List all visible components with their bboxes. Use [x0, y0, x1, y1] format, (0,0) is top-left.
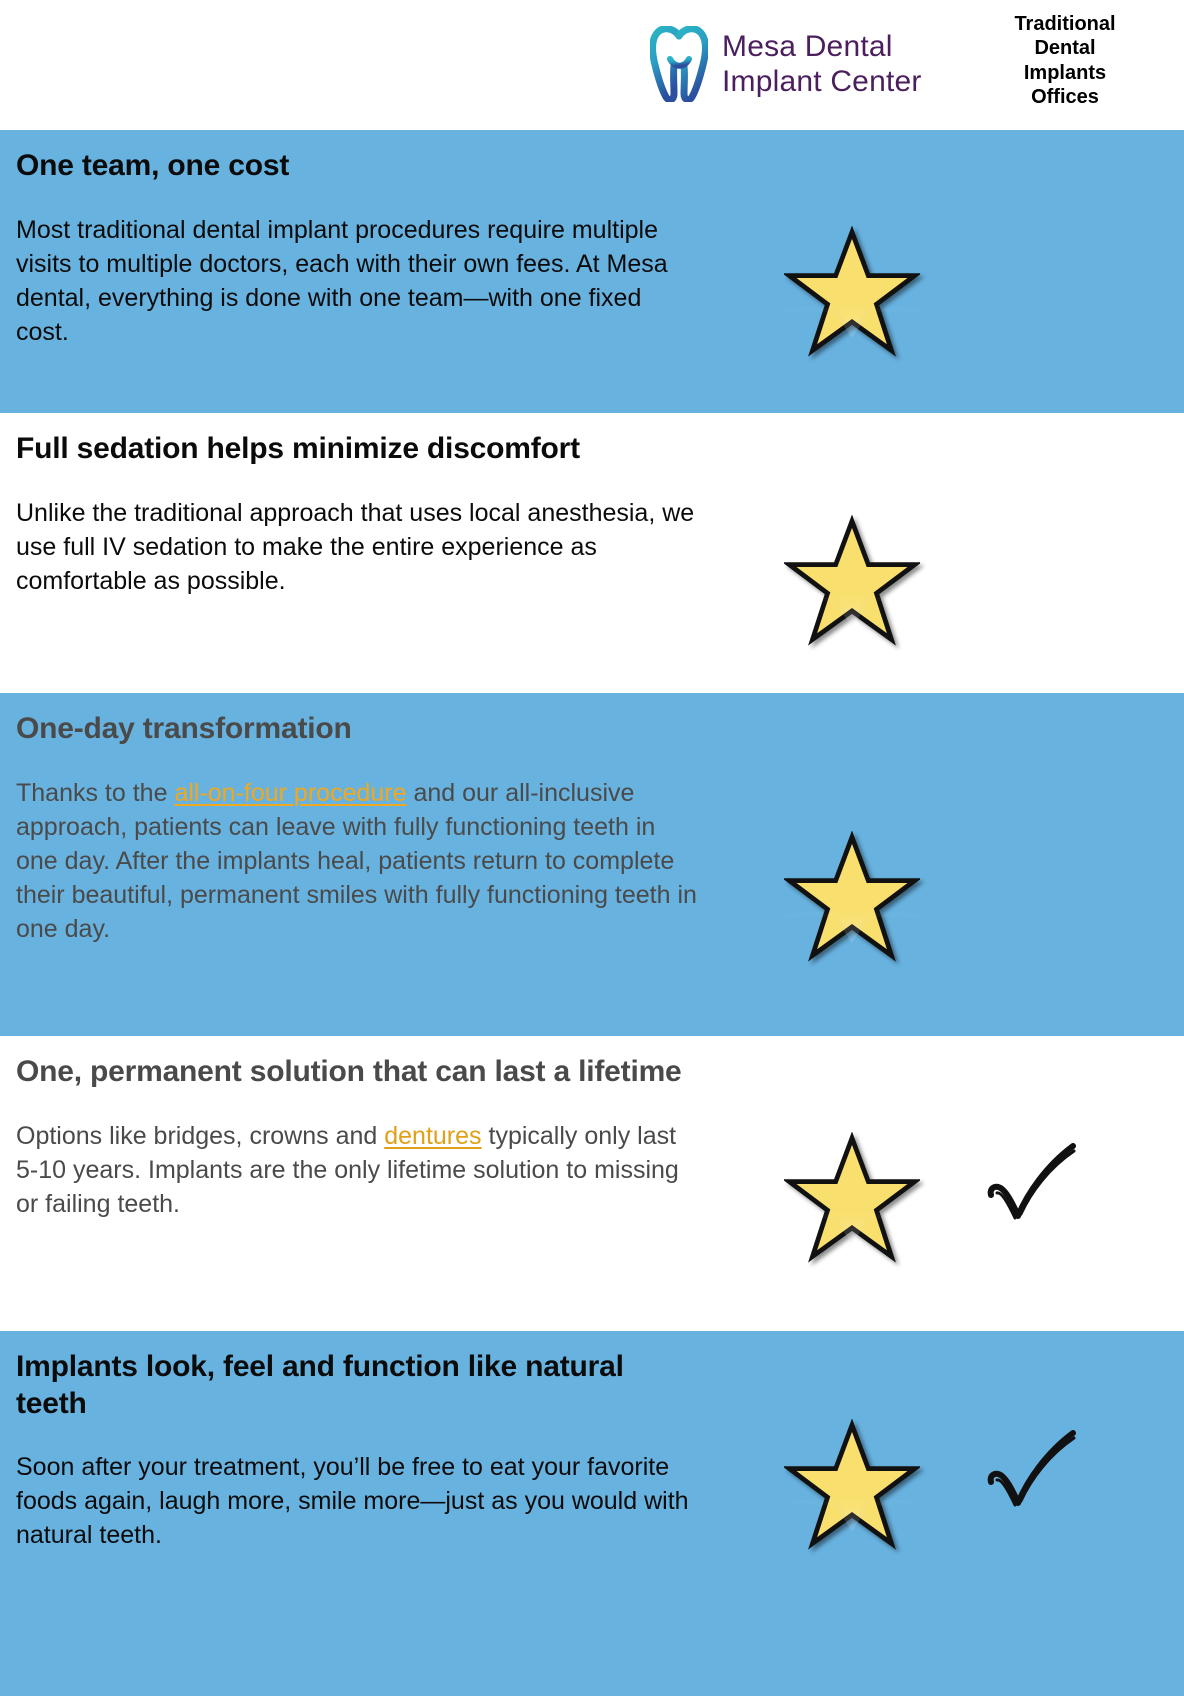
- traditional-column-icon: [942, 1132, 1122, 1232]
- row-body-pre: Thanks to the: [16, 779, 174, 807]
- mesa-column-icon: [762, 226, 942, 358]
- row-text: Full sedation helps minimize discomfort …: [0, 431, 700, 598]
- row-body: Soon after your treatment, you’ll be fre…: [16, 1450, 700, 1552]
- row-body-pre: Options like bridges, crowns and: [16, 1122, 384, 1150]
- star-icon: [784, 515, 920, 647]
- row-text: Implants look, feel and function like na…: [0, 1349, 700, 1552]
- row-body: Unlike the traditional approach that use…: [16, 496, 700, 598]
- row-body: Options like bridges, crowns and denture…: [16, 1119, 700, 1221]
- star-reflection: [784, 594, 920, 627]
- check-icon: [977, 1132, 1087, 1232]
- mesa-column-icon: [762, 515, 942, 647]
- star-icon: [784, 1419, 920, 1551]
- row-body-pre: Most traditional dental implant procedur…: [16, 216, 668, 346]
- feature-row-one-day-transformation: One-day transformation Thanks to the all…: [0, 693, 1184, 1036]
- tooth-smile-icon: [650, 26, 708, 102]
- feature-row-natural-teeth: Implants look, feel and function like na…: [0, 1331, 1184, 1696]
- feature-row-full-sedation: Full sedation helps minimize discomfort …: [0, 413, 1184, 673]
- row-title: One team, one cost: [16, 148, 700, 185]
- row-title: Implants look, feel and function like na…: [16, 1349, 700, 1422]
- row-body: Thanks to the all-on-four procedure and …: [16, 776, 700, 946]
- row-text: One team, one cost Most traditional dent…: [0, 148, 700, 349]
- mesa-column-icon: [762, 1132, 942, 1264]
- star-reflection: [784, 305, 920, 338]
- mesa-column-icon: [762, 831, 942, 963]
- star-icon: [784, 831, 920, 963]
- row-body-pre: Soon after your treatment, you’ll be fre…: [16, 1453, 689, 1549]
- star-icon: [784, 1132, 920, 1264]
- star-reflection: [784, 1498, 920, 1531]
- all-on-four-procedure-link[interactable]: all-on-four procedure: [174, 779, 406, 807]
- brand-lockup: Mesa Dental Implant Center: [650, 26, 922, 102]
- check-icon: [977, 1419, 1087, 1519]
- comparison-infographic: Mesa Dental Implant Center Traditional D…: [0, 0, 1184, 1656]
- feature-row-one-team-one-cost: One team, one cost Most traditional dent…: [0, 130, 1184, 413]
- traditional-offices-column-heading: Traditional Dental Implants Offices: [952, 12, 1178, 110]
- row-title: Full sedation helps minimize discomfort: [16, 431, 700, 468]
- row-title: One, permanent solution that can last a …: [16, 1054, 700, 1091]
- star-reflection: [784, 1211, 920, 1244]
- row-divider: [0, 673, 1184, 693]
- row-divider: [0, 1311, 1184, 1331]
- star-reflection: [784, 910, 920, 943]
- star-icon: [784, 226, 920, 358]
- row-text: One-day transformation Thanks to the all…: [0, 711, 700, 946]
- row-text: One, permanent solution that can last a …: [0, 1054, 700, 1221]
- row-body-pre: Unlike the traditional approach that use…: [16, 499, 694, 595]
- row-body: Most traditional dental implant procedur…: [16, 213, 700, 349]
- brand-name: Mesa Dental Implant Center: [722, 29, 922, 100]
- dentures-link[interactable]: dentures: [384, 1122, 481, 1150]
- page-header: Mesa Dental Implant Center Traditional D…: [0, 0, 1184, 130]
- feature-row-permanent-solution: One, permanent solution that can last a …: [0, 1036, 1184, 1311]
- mesa-column-icon: [762, 1419, 942, 1551]
- row-title: One-day transformation: [16, 711, 700, 748]
- traditional-column-icon: [942, 1419, 1122, 1519]
